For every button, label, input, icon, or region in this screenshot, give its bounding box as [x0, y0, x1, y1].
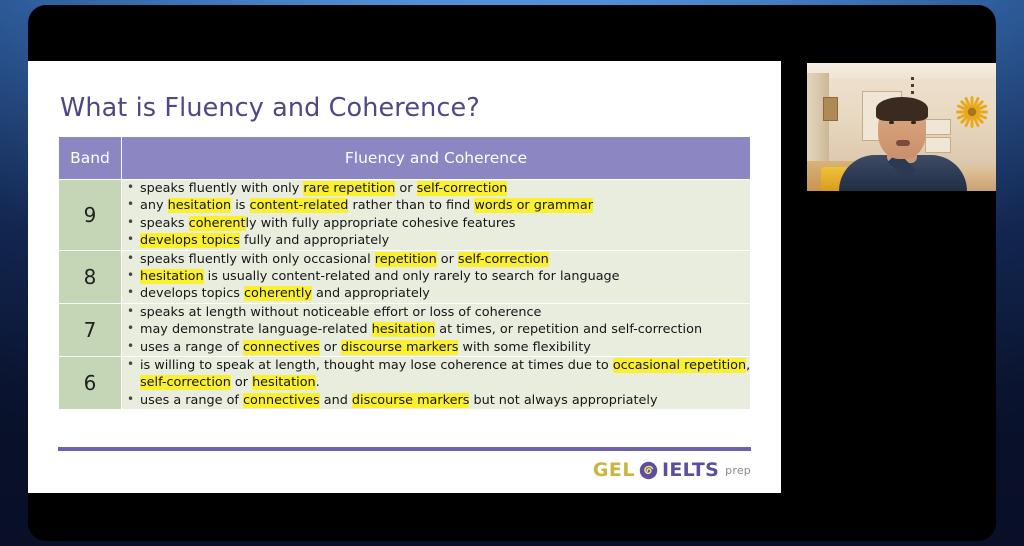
highlighted-phrase: coherently: [244, 286, 312, 301]
table-row: 7speaks at length without noticeable eff…: [59, 303, 751, 356]
descriptor-item: any hesitation is content-related rather…: [122, 197, 750, 214]
logo-gel-text: GEL: [593, 459, 635, 481]
presenter-mouth: [896, 140, 910, 146]
descriptor-item: speaks fluently with only rare repetitio…: [122, 180, 750, 197]
band-score-cell: 6: [59, 357, 122, 410]
descriptor-item: hesitation is usually content-related an…: [122, 268, 750, 285]
page-title: What is Fluency and Coherence?: [60, 93, 480, 123]
descriptor-item: self-correction or hesitation.: [122, 374, 750, 391]
band-score-cell: 8: [59, 250, 122, 303]
descriptor-list: speaks fluently with only rare repetitio…: [122, 180, 750, 250]
screen: What is Fluency and Coherence? Band Flue…: [0, 0, 1024, 546]
highlighted-phrase: develops topics: [140, 233, 240, 248]
highlighted-phrase: hesitation: [140, 269, 204, 284]
band-descriptor-cell: is willing to speak at length, thought m…: [122, 357, 751, 410]
highlighted-phrase: connectives: [243, 340, 320, 355]
band-descriptor-cell: speaks at length without noticeable effo…: [122, 303, 751, 356]
footer-divider: [58, 447, 751, 451]
table-row: 6is willing to speak at length, thought …: [59, 357, 751, 410]
highlighted-phrase: words or grammar: [474, 198, 593, 213]
descriptor-item: develops topics coherently and appropria…: [122, 285, 750, 302]
swirl-icon: [639, 461, 658, 480]
brand-logo: GEL IELTS prep: [593, 459, 751, 481]
table-header-row: Band Fluency and Coherence: [59, 137, 751, 180]
highlighted-phrase: rare repetition: [303, 181, 395, 196]
highlighted-phrase: coherent: [189, 216, 246, 231]
band-descriptor-table: Band Fluency and Coherence 9speaks fluen…: [58, 136, 751, 410]
highlighted-phrase: self-correction: [140, 375, 231, 390]
highlighted-phrase: occasional repetition: [613, 358, 746, 373]
video-player[interactable]: What is Fluency and Coherence? Band Flue…: [28, 5, 996, 541]
table-row: 8speaks fluently with only occasional re…: [59, 250, 751, 303]
descriptor-item: speaks fluently with only occasional rep…: [122, 251, 750, 268]
descriptor-item: develops topics fully and appropriately: [122, 232, 750, 249]
band-score-cell: 7: [59, 303, 122, 356]
descriptor-item: speaks coherently with fully appropriate…: [122, 215, 750, 232]
highlighted-phrase: discourse markers: [341, 340, 459, 355]
logo-prep-text: prep: [725, 464, 751, 477]
highlighted-phrase: hesitation: [168, 198, 232, 213]
highlighted-phrase: hesitation: [252, 375, 316, 390]
highlighted-phrase: hesitation: [372, 322, 436, 337]
band-descriptor-cell: speaks fluently with only occasional rep…: [122, 250, 751, 303]
highlighted-phrase: self-correction: [417, 181, 508, 196]
room-ceiling: [807, 63, 996, 79]
presenter-hair: [876, 97, 928, 121]
highlighted-phrase: self-correction: [458, 252, 549, 267]
presenter-figure: [839, 97, 967, 191]
highlighted-phrase: repetition: [375, 252, 437, 267]
slide-canvas: What is Fluency and Coherence? Band Flue…: [28, 61, 781, 493]
presenter-eye-left: [889, 121, 894, 124]
highlighted-phrase: content-related: [250, 198, 349, 213]
wall-ornament: [823, 97, 838, 121]
descriptor-list: speaks at length without noticeable effo…: [122, 304, 750, 356]
highlighted-phrase: discourse markers: [352, 393, 470, 408]
presenter-eye-right: [911, 121, 916, 124]
descriptor-list: is willing to speak at length, thought m…: [122, 357, 750, 409]
descriptor-item: may demonstrate language-related hesitat…: [122, 321, 750, 338]
descriptor-list: speaks fluently with only occasional rep…: [122, 251, 750, 303]
highlighted-phrase: connectives: [243, 393, 320, 408]
descriptor-item: is willing to speak at length, thought m…: [122, 357, 750, 374]
presenter-webcam-video[interactable]: [807, 63, 996, 191]
band-score-cell: 9: [59, 180, 122, 251]
band-descriptor-cell: speaks fluently with only rare repetitio…: [122, 180, 751, 251]
table-row: 9speaks fluently with only rare repetiti…: [59, 180, 751, 251]
table-body: 9speaks fluently with only rare repetiti…: [59, 180, 751, 410]
logo-ielts-text: IELTS: [662, 459, 719, 481]
descriptor-item: uses a range of connectives and discours…: [122, 392, 750, 409]
descriptor-item: uses a range of connectives or discourse…: [122, 339, 750, 356]
column-header-criterion: Fluency and Coherence: [122, 137, 751, 180]
column-header-band: Band: [59, 137, 122, 180]
descriptor-item: speaks at length without noticeable effo…: [122, 304, 750, 321]
